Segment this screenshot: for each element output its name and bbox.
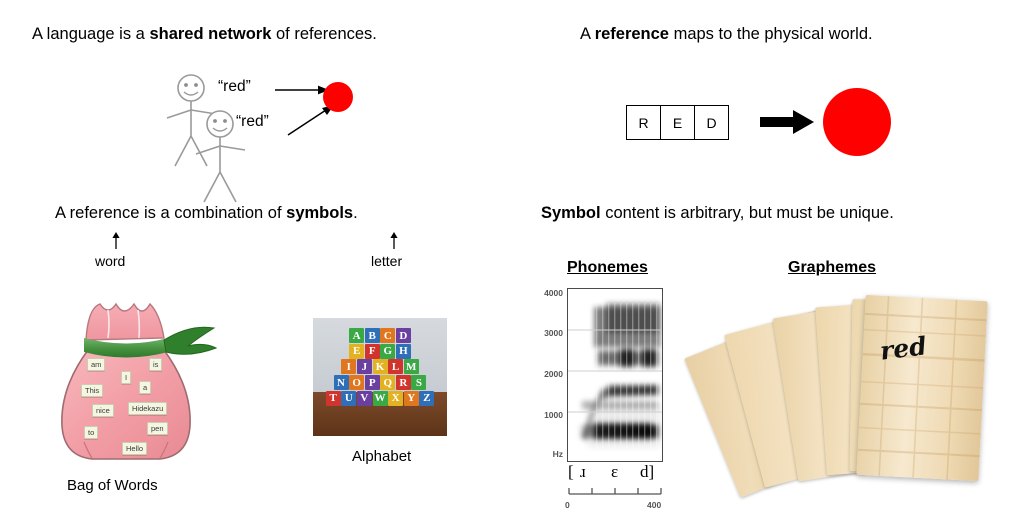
bag-word-tag: nice <box>92 404 114 417</box>
top-left-heading: A language is a shared network of refere… <box>32 24 377 44</box>
alphabet-block: J <box>357 359 372 374</box>
ipa-symbol-e: ɛ <box>611 462 618 482</box>
alphabet-block: Q <box>380 375 395 390</box>
alphabet-block: A <box>349 328 364 343</box>
alphabet-block: S <box>411 375 426 390</box>
alphabet-caption: Alphabet <box>352 448 411 465</box>
alphabet-block: C <box>380 328 395 343</box>
phonemes-column-title: Phonemes <box>567 259 648 277</box>
bag-word-tag: Hidekazu <box>128 402 167 415</box>
alphabet-block: E <box>349 344 364 359</box>
heading-text-pre: A reference is a combination of <box>55 204 286 222</box>
up-arrow-word-icon <box>110 232 122 249</box>
red-object-circle <box>323 82 353 112</box>
alphabet-block: O <box>349 375 364 390</box>
letter-cell: R <box>627 106 661 139</box>
bag-word-tag: This <box>81 384 103 397</box>
papyrus-stack-image: red <box>703 292 1013 522</box>
up-arrow-letter-icon <box>388 232 400 249</box>
x-axis-tick-min: 0 <box>565 500 570 510</box>
alphabet-block: P <box>365 375 380 390</box>
y-axis-tick: 3000 <box>530 328 563 338</box>
bag-word-tag: a <box>139 381 151 394</box>
pointer-label-word: word <box>95 253 125 269</box>
blocks-row: A B C D <box>313 328 447 344</box>
alphabet-block: X <box>388 391 403 406</box>
red-object-circle <box>823 88 891 156</box>
y-axis-tick: 4000 <box>530 288 563 298</box>
heading-text-bold: reference <box>595 25 669 43</box>
bag-of-words-image: am is I a This nice Hidekazu pen to Hell… <box>48 292 228 470</box>
heading-text-bold: Symbol <box>541 204 601 222</box>
alphabet-blocks-image: A B C D E F G H I J K L M N O P Q R S T <box>313 318 447 436</box>
heading-text-bold: shared network <box>149 25 271 43</box>
alphabet-block: L <box>388 359 403 374</box>
spectrogram-plot-area <box>567 288 663 462</box>
y-axis-unit-label: Hz <box>530 449 563 459</box>
alphabet-block: K <box>373 359 388 374</box>
x-axis-ruler <box>567 487 663 497</box>
blocks-row: E F G H <box>313 344 447 360</box>
bottom-right-heading: Symbol content is arbitrary, but must be… <box>541 203 894 223</box>
heading-text-post: of references. <box>271 25 376 43</box>
alphabet-block: B <box>365 328 380 343</box>
bag-word-tag: am <box>87 358 105 371</box>
blocks-row: N O P Q R S <box>313 375 447 391</box>
y-axis-tick: 1000 <box>530 410 563 420</box>
alphabet-block: M <box>404 359 419 374</box>
alphabet-block: Y <box>404 391 419 406</box>
alphabet-block: V <box>357 391 372 406</box>
alphabet-block: H <box>396 344 411 359</box>
spectrogram-chart: 4000 3000 2000 1000 Hz <box>530 288 670 518</box>
papyrus-handwritten-word: red <box>878 331 928 365</box>
heading-text-pre: A <box>580 25 595 43</box>
alphabet-block: W <box>373 391 388 406</box>
speech-label-2: “red” <box>236 113 269 131</box>
ipa-symbol-r: ɹ <box>580 462 586 482</box>
heading-text-post: maps to the physical world. <box>669 25 873 43</box>
letter-cell: D <box>695 106 728 139</box>
top-right-heading: A reference maps to the physical world. <box>580 24 873 44</box>
alphabet-block: G <box>380 344 395 359</box>
alphabet-block: D <box>396 328 411 343</box>
bag-word-tag: to <box>84 426 98 439</box>
speech-label-1: “red” <box>218 78 251 96</box>
alphabet-block: N <box>334 375 349 390</box>
bag-word-tag: pen <box>147 422 168 435</box>
ipa-bracket-open: [ <box>568 462 574 482</box>
alphabet-block: U <box>341 391 356 406</box>
heading-text-post: content is arbitrary, but must be unique… <box>601 204 894 222</box>
blocks-row: I J K L M <box>313 359 447 375</box>
bag-of-words-caption: Bag of Words <box>67 477 158 494</box>
bottom-left-heading: A reference is a combination of symbols. <box>55 203 358 223</box>
y-axis-tick: 2000 <box>530 369 563 379</box>
letter-boxes: R E D <box>626 105 729 140</box>
bag-word-tag: Hello <box>122 442 147 455</box>
bag-word-tag: is <box>149 358 162 371</box>
heading-text-bold: symbols <box>286 204 353 222</box>
x-axis-tick-max: 400 <box>647 500 661 510</box>
graphemes-column-title: Graphemes <box>788 259 876 277</box>
heading-text-pre: A language is a <box>32 25 149 43</box>
blocks-row: T U V W X Y Z <box>313 390 447 406</box>
letter-cell: E <box>661 106 695 139</box>
alphabet-block: F <box>365 344 380 359</box>
alphabet-block: I <box>341 359 356 374</box>
maps-to-arrow-icon <box>760 108 816 136</box>
pointer-label-letter: letter <box>371 253 402 269</box>
alphabet-block: T <box>326 391 341 406</box>
alphabet-block: R <box>396 375 411 390</box>
alphabet-block: Z <box>419 391 434 406</box>
bag-word-tag: I <box>121 371 131 384</box>
ipa-symbol-d: d] <box>640 462 654 482</box>
heading-text-post: . <box>353 204 358 222</box>
